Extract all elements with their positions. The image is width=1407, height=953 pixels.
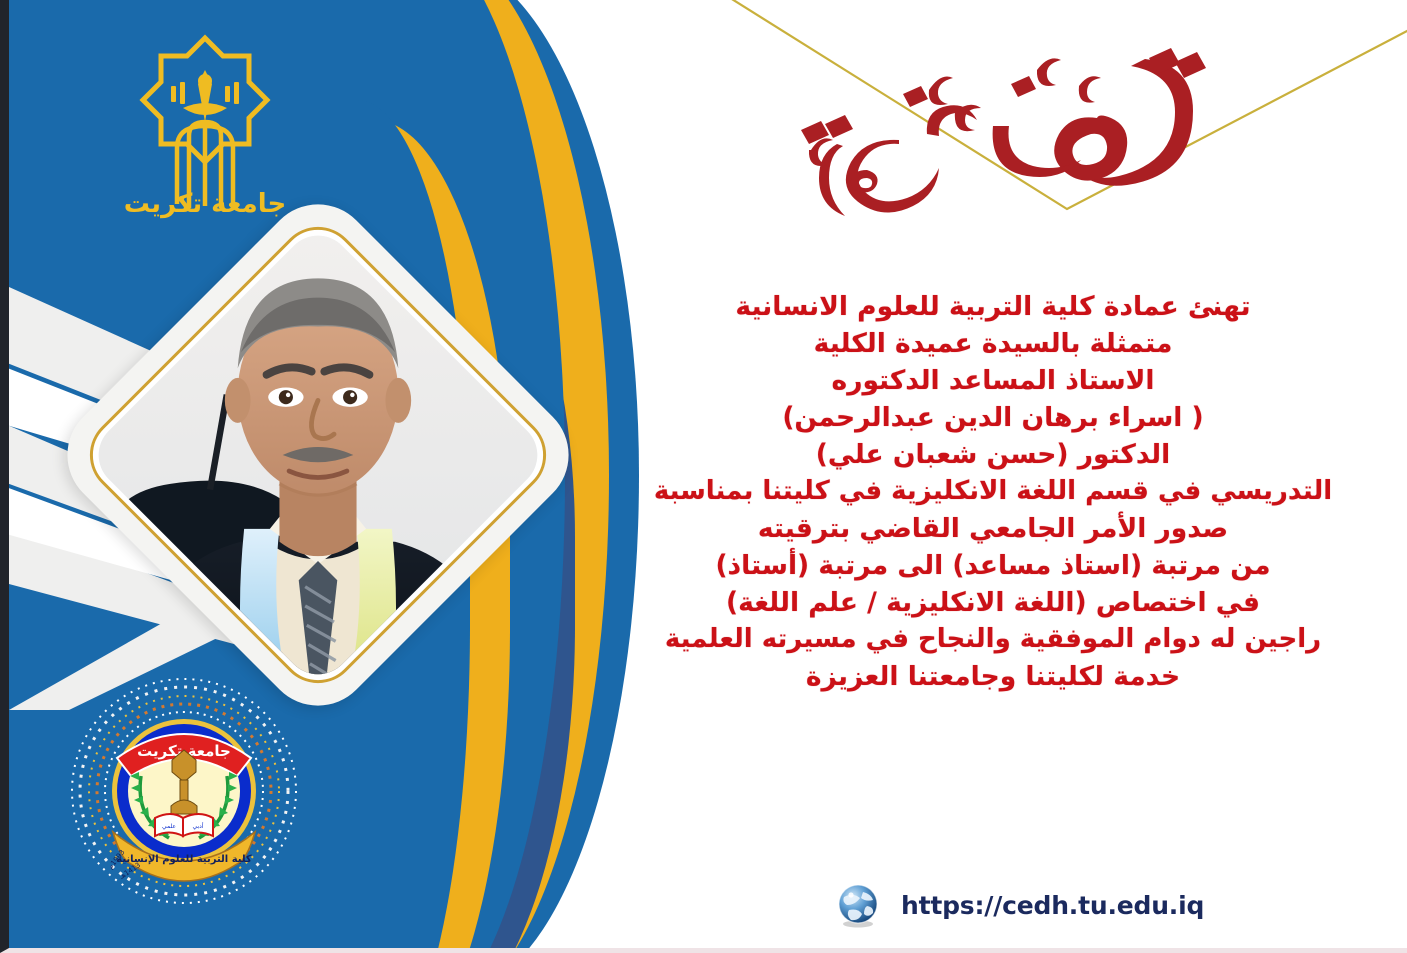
body-line: متمثلة بالسيدة عميدة الكلية <box>609 325 1377 362</box>
portrait-photo <box>85 222 552 689</box>
body-line: صدور الأمر الجامعي القاضي بترقيته <box>609 510 1377 547</box>
globe-icon <box>833 880 883 930</box>
body-line: تهنئ عمادة كلية التربية للعلوم الانسانية <box>609 288 1377 325</box>
body-line: التدريسي في قسم اللغة الانكليزية في كليت… <box>609 473 1377 510</box>
website-url[interactable]: https://cedh.tu.edu.iq <box>901 891 1204 920</box>
portrait-illustration <box>85 222 552 689</box>
svg-text:علمي: علمي <box>162 823 176 830</box>
body-line: ( اسراء برهان الدين عبدالرحمن) <box>609 399 1377 436</box>
portrait-frame <box>153 290 483 620</box>
svg-text:أدبي: أدبي <box>192 822 203 830</box>
body-line: في اختصاص (اللغة الانكليزية / علم اللغة) <box>609 584 1377 621</box>
headline-tahniaa <box>779 22 1209 232</box>
body-line: خدمة لكليتنا وجامعتنا العزيزة <box>609 658 1377 695</box>
body-line: الدكتور (حسن شعبان علي) <box>609 436 1377 473</box>
website-footer[interactable]: https://cedh.tu.edu.iq <box>833 880 1204 930</box>
tikrit-university-logo: جامعة تكريت <box>105 26 305 226</box>
headline-calligraphy <box>779 22 1209 232</box>
body-line: راجين له دوام الموفقية والنجاح في مسيرته… <box>609 621 1377 658</box>
congratulation-poster: جامعة تكريت جامعة تكريت <box>0 0 1407 953</box>
body-line: من مرتبة (استاذ مساعد) الى مرتبة (أستاذ) <box>609 547 1377 584</box>
congratulation-body: تهنئ عمادة كلية التربية للعلوم الانسانية… <box>609 288 1377 695</box>
college-of-education-seal: جامعة تكريت علمي أدبي كلية ا <box>69 676 299 906</box>
body-line: الاستاذ المساعد الدكتوره <box>609 362 1377 399</box>
uni-logo-caption: جامعة تكريت <box>124 189 286 219</box>
